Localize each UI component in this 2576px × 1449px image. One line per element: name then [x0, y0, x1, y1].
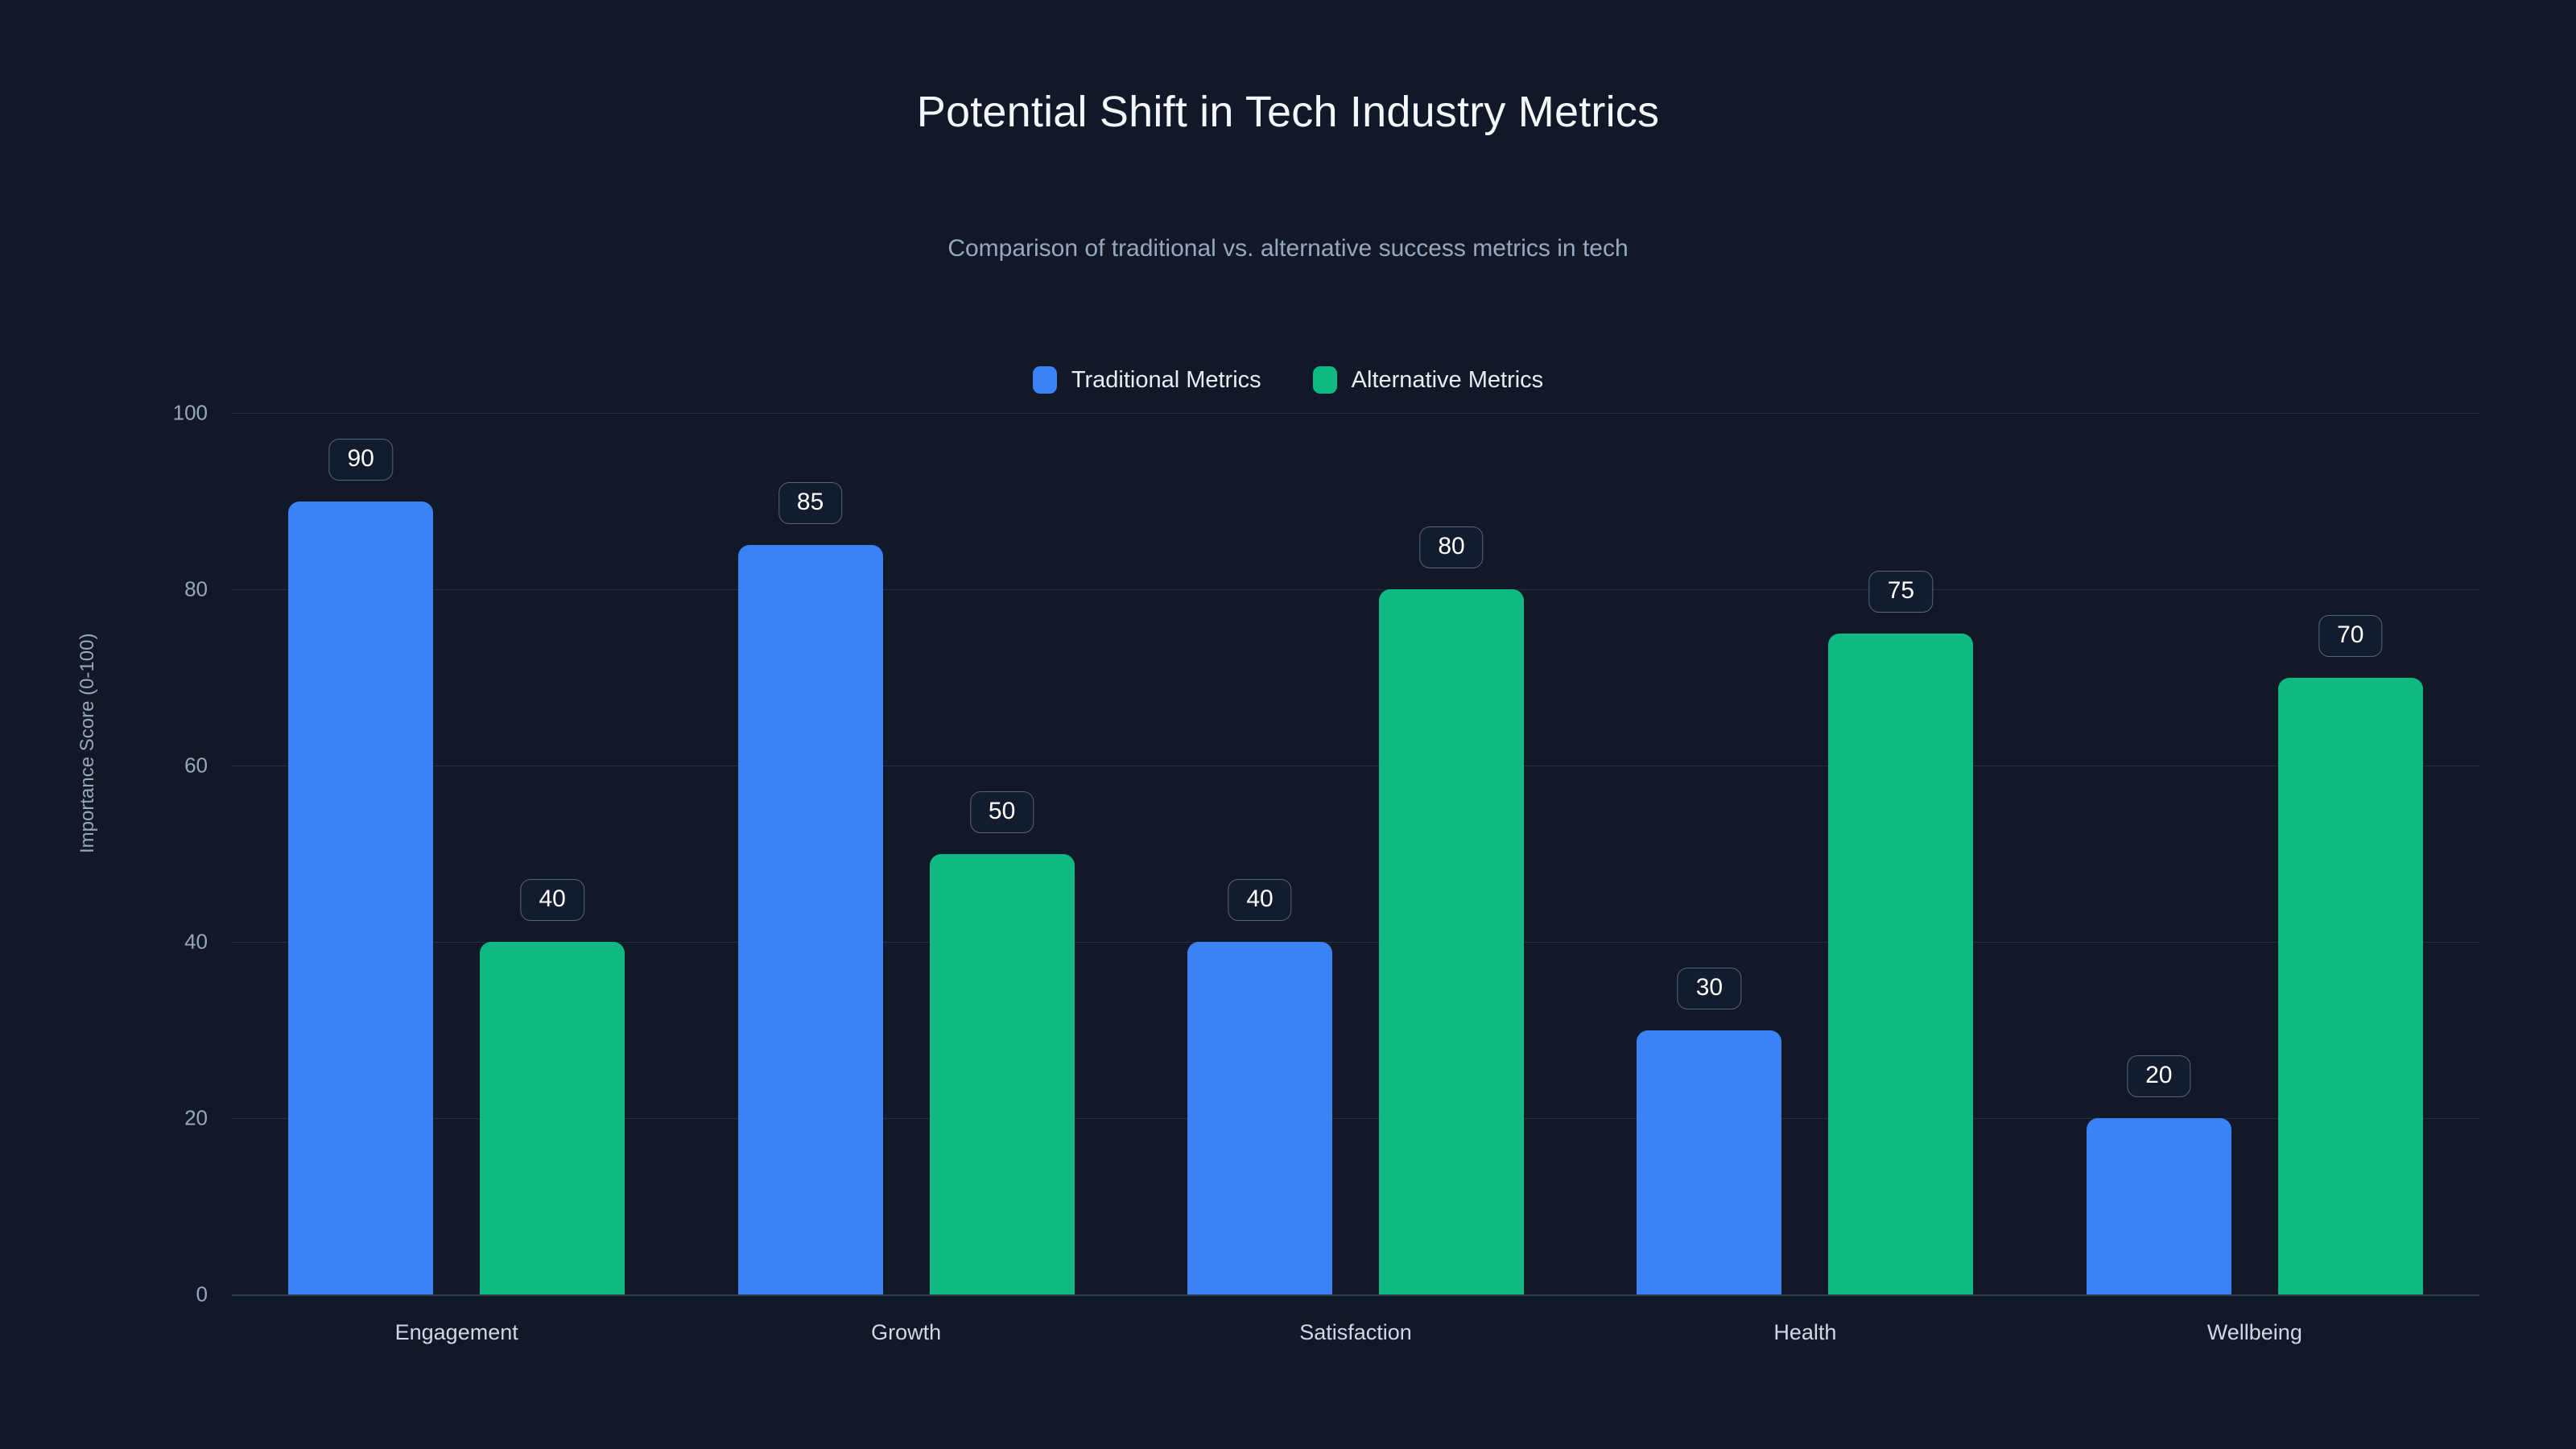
x-axis-tick-label: Growth — [871, 1320, 941, 1345]
bar-value-label: 40 — [1228, 879, 1291, 921]
bar-value-label: 40 — [521, 879, 584, 921]
bar[interactable] — [1379, 589, 1524, 1294]
y-axis-title: Importance Score (0-100) — [76, 634, 99, 853]
plot-area: 90408550408030752070 — [232, 413, 2479, 1294]
bar[interactable] — [2278, 678, 2423, 1295]
bar-value-label: 20 — [2127, 1055, 2190, 1097]
bar-value-label: 90 — [329, 439, 393, 481]
bar[interactable] — [480, 942, 625, 1294]
page-title: Potential Shift in Tech Industry Metrics — [0, 87, 2576, 137]
y-axis-tick-label: 0 — [113, 1282, 208, 1307]
bar-value-label: 80 — [1419, 526, 1483, 568]
legend-item[interactable]: Traditional Metrics — [1033, 366, 1261, 394]
square-swatch-icon — [1033, 366, 1057, 394]
y-axis-tick-label: 20 — [113, 1106, 208, 1131]
chart-subtitle: Comparison of traditional vs. alternativ… — [0, 235, 2576, 262]
legend-item-label: Alternative Metrics — [1352, 367, 1544, 394]
bar-value-label: 30 — [1678, 968, 1741, 1009]
bar[interactable] — [1828, 634, 1973, 1294]
chart-legend: Traditional MetricsAlternative Metrics — [0, 366, 2576, 394]
x-axis-tick-label: Satisfaction — [1299, 1320, 1412, 1345]
gridline — [232, 1294, 2479, 1296]
bar[interactable] — [738, 545, 883, 1294]
bar[interactable] — [2087, 1118, 2231, 1294]
x-axis-tick-label: Health — [1773, 1320, 1836, 1345]
bar[interactable] — [930, 854, 1075, 1295]
bar-value-label: 70 — [2318, 615, 2382, 657]
gridline — [232, 413, 2479, 414]
bar-value-label: 85 — [778, 482, 842, 524]
y-axis-tick-label: 60 — [113, 753, 208, 778]
bar[interactable] — [288, 502, 433, 1295]
square-swatch-icon — [1313, 366, 1337, 394]
y-axis-tick-label: 80 — [113, 577, 208, 602]
bar-value-label: 50 — [970, 791, 1034, 833]
y-axis-tick-label: 40 — [113, 930, 208, 955]
chart-canvas: Potential Shift in Tech Industry Metrics… — [0, 0, 2576, 1449]
bar[interactable] — [1187, 942, 1332, 1294]
bar[interactable] — [1637, 1030, 1781, 1295]
legend-item[interactable]: Alternative Metrics — [1313, 366, 1544, 394]
legend-item-label: Traditional Metrics — [1071, 367, 1261, 394]
gridline — [232, 766, 2479, 766]
x-axis-tick-label: Wellbeing — [2207, 1320, 2302, 1345]
x-axis-tick-label: Engagement — [395, 1320, 518, 1345]
gridline — [232, 589, 2479, 590]
bar-value-label: 75 — [1869, 571, 1933, 613]
y-axis-tick-label: 100 — [113, 401, 208, 426]
